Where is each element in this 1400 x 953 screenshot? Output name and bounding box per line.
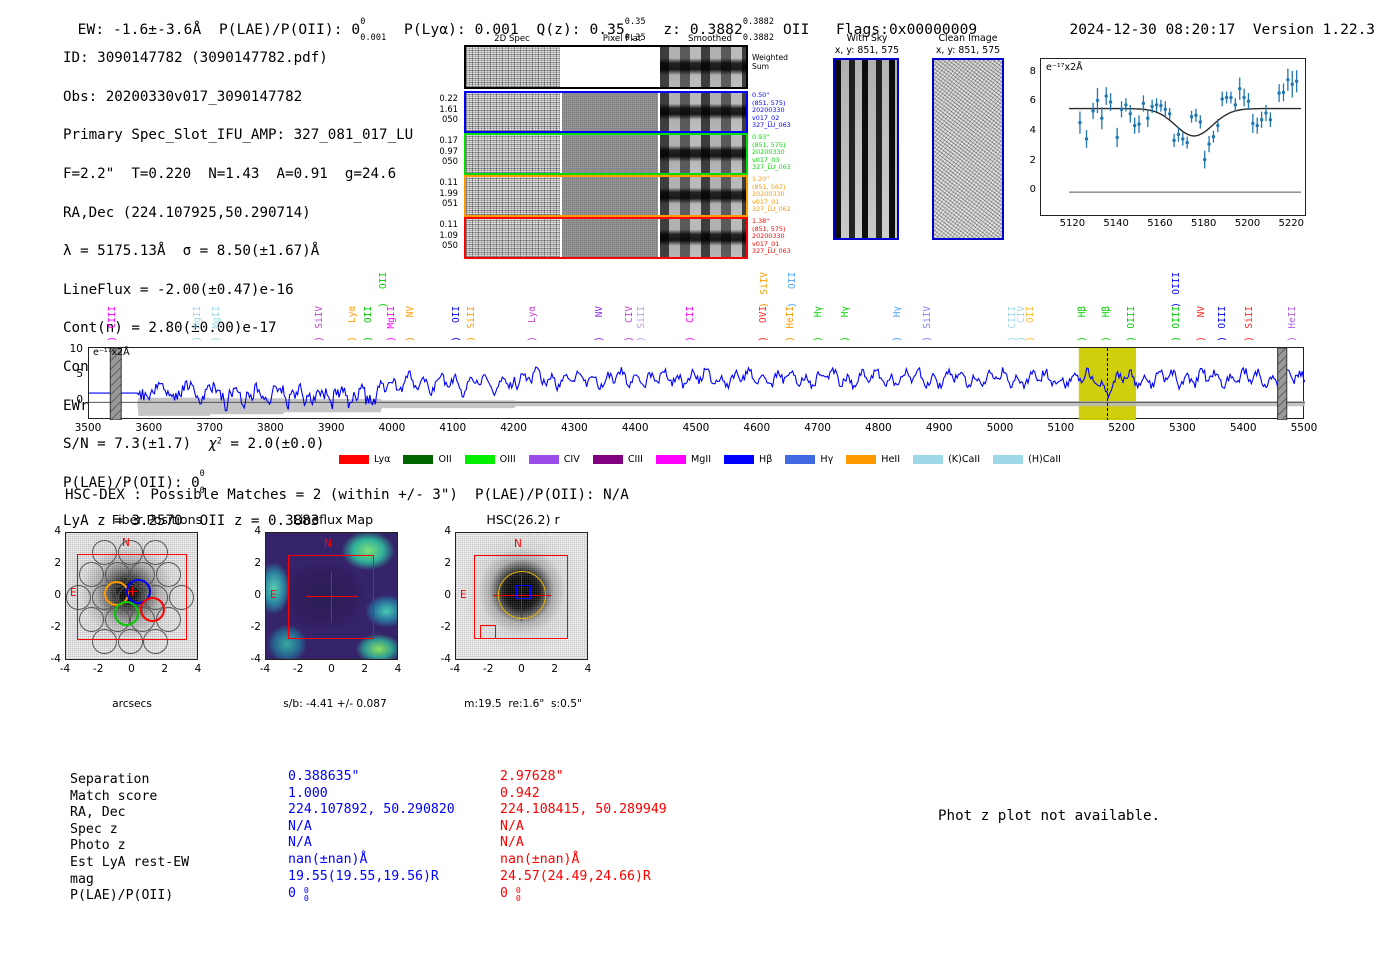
lineflux-xlabel: s/b: -4.41 +/- 0.087 [250,698,420,710]
match-table-label: P(LAE)/P(OII) [70,888,173,905]
spectrum-line-brace: ) [211,336,222,342]
line-fit-svg [1041,59,1307,217]
spectrum-line-label: OII [363,306,374,323]
spectrum-line-brace: ) [624,336,635,342]
spectrum-line-label: Hγ [892,306,903,317]
line-fit-xtick: 5220 [1269,218,1313,229]
spectrum-line-brace: ) [347,336,358,342]
spectrum-line-label: Lyα [527,306,538,323]
spectrum-xtick: 3500 [58,422,118,434]
mini-ytick: 0 [241,589,261,601]
full-spectrum-plot: e⁻¹⁷x2Å [88,347,1304,419]
legend-label: OIII [500,454,516,465]
compass-e-hsc: E [460,589,467,601]
weighted-sum-2dspec [466,47,560,87]
spectrum-line-brace: ) [758,336,769,342]
fiber-red-box [77,554,187,640]
spectrum-xtick: 4400 [605,422,665,434]
line-fit-ytick: 6 [1014,95,1036,106]
mini-ytick: 2 [241,557,261,569]
fiber-row-caption: 1.20" (851, 567) 20200330 v017_01 327_LU… [752,176,791,214]
fiber-row-2dspec [466,135,560,173]
spectrum-ytick: 0 [60,394,83,406]
fiber-row [464,91,748,133]
mini-xtick: 2 [351,663,379,675]
match-table-blue-value: 224.107892, 50.290820 [288,802,455,819]
match-table-blue-value: 0 00 [288,885,309,903]
mini-ytick: -2 [41,621,61,633]
fiber-row-pixelflat [562,219,658,257]
match-table-label: Separation [70,772,149,789]
hsc-blue-box [516,585,531,599]
spectrum-ytick: 10 [60,343,83,355]
cutout-with-sky-image [833,58,899,240]
fiber-row [464,133,748,175]
match-table-red-value: 2.97628" [500,769,564,786]
spectrum-xtick: 3900 [301,422,361,434]
spectrum-xtick: 4100 [423,422,483,434]
info-obs: Obs: 20200330v017_3090147782 [63,88,430,107]
legend-label: CIII [628,454,643,465]
spectrum-line-brace: ) [363,336,374,342]
fiber-xlabel: arcsecs [62,698,202,710]
spectrum-line-label: NV [594,306,605,317]
fiber-row-metrics: 0.17 0.97 050 [418,135,458,167]
legend-swatch [656,455,686,464]
spectrum-line-label: OIII [1171,306,1182,329]
spectrum-xtick: 5200 [1092,422,1152,434]
info-radec: RA,Dec (224.107925,50.290714) [63,204,430,223]
spectrum-line-brace: ) [594,336,605,342]
match-table-label: Spec z [70,822,118,839]
spectrum-line-labels: CIII)MgII)MgII)SiIV)Lyα)OII)OII)MgII)NV)… [0,272,1400,350]
legend-item: OII [403,454,451,465]
match-table-blue-value: N/A [288,819,312,836]
photz-message: Phot z plot not available. [938,808,1160,824]
spectrum-line-label: SiII [466,306,477,329]
legend-swatch [913,455,943,464]
mini-ytick: 0 [431,589,451,601]
spectrum-xtick: 5000 [970,422,1030,434]
spectrum-line-label: SiII [1244,306,1255,329]
spectrum-xtick: 5100 [1031,422,1091,434]
spectrum-xtick: 4700 [788,422,848,434]
spectrum-line-label: OIII [1126,306,1137,329]
fiber-row-2dspec [466,219,560,257]
panel-title-fiber-positions: Fiber Positions [62,512,252,527]
mini-ytick: 0 [41,589,61,601]
legend-swatch [529,455,559,464]
spectrum-xtick: 4000 [362,422,422,434]
spectrum-line-brace: ) [107,336,118,342]
mini-ytick: 4 [241,525,261,537]
spectrum-xtick: 4800 [848,422,908,434]
match-table-red-value: 224.108415, 50.289949 [500,802,667,819]
compass-n-fiber: N [122,537,130,549]
info-lambda-sigma: λ = 5175.13Å σ = 8.50(±1.67)Å [63,242,430,261]
match-table-label: RA, Dec [70,805,126,822]
mini-xtick: 2 [151,663,179,675]
spectrum-xtick: 3600 [119,422,179,434]
spectrum-line-brace: ) [685,336,696,342]
mini-xtick: 0 [318,663,346,675]
legend-item: Lyα [339,454,390,465]
legend-label: Hβ [759,454,772,465]
line-fit-ytick: 2 [1014,155,1036,166]
spectrum-line-brace: ) [192,336,203,342]
legend-item: CIV [529,454,580,465]
legend-swatch [724,455,754,464]
spectrum-line-label: OIII [1171,272,1182,295]
cutout-coords-clean: x, y: 851, 575 [916,45,1020,56]
legend-item: Hγ [785,454,833,465]
legend-label: Lyα [374,454,390,465]
legend-item: HeII [846,454,900,465]
match-table-red-value: 0 00 [500,885,521,903]
spectrum-line-label: MgII [211,306,222,329]
spectrum-line-brace: ) [1287,336,1298,342]
line-fit-xtick: 5160 [1138,218,1182,229]
match-table-blue-value: 19.55(19.55,19.56)R [288,869,439,886]
spectrum-line-label: Hβ [1077,306,1088,317]
lineflux-crosshair-v [331,571,332,623]
legend-label: (H)CaII [1028,454,1061,465]
spectrum-line-label: SiII [636,306,647,329]
spectrum-line-label: HeII [1287,306,1298,329]
spectrum-line-brace: ) [386,336,397,342]
spectrum-xtick: 4300 [544,422,604,434]
spectrum-line-brace: ) [314,336,325,342]
mini-xtick: 2 [541,663,569,675]
spectrum-line-brace: ) [787,302,798,308]
line-fit-xtick: 5180 [1182,218,1226,229]
spectrum-xtick: 3800 [240,422,300,434]
spectrum-line-brace: ) [636,336,647,342]
legend-label: (K)CaII [948,454,980,465]
spectrum-line-brace: ) [466,336,477,342]
legend-swatch [846,455,876,464]
match-table-label: Match score [70,789,157,806]
fiber-row-smoothed [660,93,746,131]
match-table-blue-value: 1.000 [288,786,328,803]
mini-ytick: 4 [41,525,61,537]
hsc-xlabel: m:19.5 re:1.6" s:0.5" [438,698,608,710]
spectrum-line-brace: ) [1217,336,1228,342]
header-z-species: OII [783,22,810,38]
spectrum-line-brace: ) [785,336,796,342]
legend-swatch [465,455,495,464]
legend-label: MgII [691,454,711,465]
hsc-r-image: NE [455,532,588,660]
weighted-sum-label: Weighted Sum [752,53,788,71]
spectrum-line-label: SiIV [314,306,325,329]
match-table-blue-value: N/A [288,835,312,852]
weighted-sum-smoothed [660,47,746,87]
spectrum-xtick: 4900 [909,422,969,434]
spectrum-line-label: CIII [107,306,118,329]
spectrum-line-label: NV [1196,306,1207,317]
spectrum-xtick: 4200 [484,422,544,434]
match-table-label: Est LyA rest-EW [70,855,189,872]
weighted-sum-pixelflat [562,47,658,87]
spectrum-line-label: Lyα [347,306,358,323]
mini-ytick: 2 [41,557,61,569]
spectrum-line-label: NV [405,306,416,317]
fiber-row-2dspec [466,177,560,215]
info-id: ID: 3090147782 (3090147782.pdf) [63,49,430,68]
legend-label: HeII [881,454,900,465]
spectrum-line-brace: ) [1077,336,1088,342]
match-table-red-value: 0.942 [500,786,540,803]
spectrum-line-label: CIV [624,306,635,323]
spectrum-line-label: Hγ [813,306,824,317]
line-fit-xtick: 5200 [1225,218,1269,229]
legend-label: CIV [564,454,580,465]
mini-xtick: -2 [284,663,312,675]
spectrum-xtick: 4500 [666,422,726,434]
spectrum-line-brace: ) [1025,336,1036,342]
info-params: F=2.2" T=0.220 N=1.43 A=0.91 g=24.6 [63,165,430,184]
fiber-center-marker [132,587,133,596]
fiber-row-metrics: 0.11 1.99 051 [418,177,458,209]
spectrum-line-label: Hγ [840,306,851,317]
spectrum-line-brace: ) [1244,336,1255,342]
match-table-red-value: 24.57(24.49,24.66)R [500,869,651,886]
spectrum-xtick: 4600 [727,422,787,434]
spectrum-xtick: 5500 [1274,422,1334,434]
legend-label: Hγ [820,454,833,465]
line-fit-annotation: e⁻¹⁷x2Å [1046,62,1083,73]
line-fit-ytick: 8 [1014,66,1036,77]
mini-ytick: -4 [241,653,261,665]
spectrum-line-label: OII [787,272,798,289]
legend-item: OIII [465,454,516,465]
legend-item: (H)CaII [993,454,1061,465]
compass-e-lineflux: E [270,589,277,601]
spectrum-line-brace: ) [405,336,416,342]
fiber-row [464,175,748,217]
spectrum-line-brace: ) [922,336,933,342]
line-fit-plot: e⁻¹⁷x2Å [1040,58,1306,216]
mini-xtick: -2 [474,663,502,675]
legend-swatch [785,455,815,464]
spectrum-line-label: HeII [785,306,796,329]
cutout-title-clean: Clean Image [916,33,1020,44]
mini-ytick: -4 [41,653,61,665]
spectrum-line-brace: ) [527,336,538,342]
weighted-sum-row [464,45,748,89]
header-datetime: 2024-12-30 08:20:17 [1069,22,1235,38]
legend-swatch [403,455,433,464]
fiber-row-smoothed [660,219,746,257]
header-timestamp-version: 2024-12-30 08:20:17 Version 1.22.3 [1052,6,1375,38]
fiber-positions-image: NE [65,532,198,660]
spectrum-line-brace: ) [892,336,903,342]
spectrum-line-brace: ) [1171,336,1182,342]
match-table-red-value: N/A [500,819,524,836]
line-fit-xtick: 5120 [1050,218,1094,229]
mini-ytick: -4 [431,653,451,665]
spectrum-line-label: OIII [1217,306,1228,329]
match-table-blue-value: 0.388635" [288,769,359,786]
panel-title-lineflux-map: Lineflux Map [238,512,428,527]
spectrum-line-brace: ) [1101,336,1112,342]
spectrum-line-brace: ) [840,336,851,342]
legend-swatch [993,455,1023,464]
spectrum-line-label: MgII [386,306,397,329]
lineflux-map-image: NE [265,532,398,660]
spectrum-line-label: CII [685,306,696,323]
legend-label: OII [438,454,451,465]
full-spectrum-svg [89,348,1305,420]
match-table-label: Photo z [70,838,126,855]
cutout-coords-with-sky: x, y: 851, 575 [820,45,914,56]
line-fit-xtick: 5140 [1094,218,1138,229]
mini-ytick: 4 [431,525,451,537]
legend-item: CIII [593,454,643,465]
strip-title-2dspec: 2D Spec [462,34,562,44]
strip-title-smoothed: Smoothed [660,34,760,44]
mini-xtick: 4 [574,663,602,675]
spectrum-line-brace: ) [759,302,770,308]
fiber-row-smoothed [660,135,746,173]
spectrum-line-label: OII [451,306,462,323]
panel-title-hsc-r: HSC(26.2) r [428,512,618,527]
compass-n-lineflux: N [324,538,332,550]
fiber-row-smoothed [660,177,746,215]
fiber-row-caption: 0.93" (851, 575) 20200330 v017_03 327_LU… [752,134,791,172]
fiber-row [464,217,748,259]
line-fit-ytick: 4 [1014,125,1036,136]
legend-swatch [339,455,369,464]
cutout-title-with-sky: With Sky [820,33,914,44]
fiber-row-caption: 1.38" (851, 575) 20200330 v017_01 327_LU… [752,218,791,256]
fiber-row-pixelflat [562,93,658,131]
fiber-row-2dspec [466,93,560,131]
mini-ytick: 2 [431,557,451,569]
spectrum-annotation: e⁻¹⁷x2Å [93,347,130,358]
fiber-row-pixelflat [562,177,658,215]
match-table-red-value: N/A [500,835,524,852]
spectrum-line-brace: ) [1126,336,1137,342]
mini-ytick: -2 [431,621,451,633]
compass-n-hsc: N [514,538,522,550]
mini-ytick: -2 [241,621,261,633]
match-table-blue-value: nan(±nan)Å [288,852,367,869]
fiber-row-caption: 0.50" (851, 575) 20200330 v017_02 327_LU… [752,92,791,130]
spectrum-line-brace: ) [813,336,824,342]
spectrum-line-label: SiIV [759,272,770,295]
legend-item: Hβ [724,454,772,465]
fiber-row-pixelflat [562,135,658,173]
spectrum-line-label: MgII [192,306,203,329]
spectrum-line-label: Hβ [1101,306,1112,317]
spectrum-line-brace: ) [451,336,462,342]
match-table-label: mag [70,872,94,889]
info-primary-spec: Primary Spec_Slot_IFU_AMP: 327_081_017_L… [63,126,430,145]
header-version: Version 1.22.3 [1253,22,1375,38]
mini-xtick: 4 [184,663,212,675]
strip-title-pixelflat: Pixel Flat [572,34,672,44]
hsc-small-red-box [480,625,496,639]
spectrum-ytick: 5 [60,368,83,380]
fiber-row-metrics: 0.11 1.09 050 [418,219,458,251]
mini-xtick: 0 [508,663,536,675]
spectrum-line-brace: ) [1196,336,1207,342]
mini-xtick: 4 [384,663,412,675]
spectrum-legend: LyαOIIOIIICIVCIIIMgIIHβHγHeII(K)CaII(H)C… [0,452,1400,466]
fiber-row-metrics: 0.22 1.61 050 [418,93,458,125]
spectrum-xtick: 5400 [1213,422,1273,434]
legend-item: MgII [656,454,711,465]
spectrum-xtick: 3700 [180,422,240,434]
spectrum-line-label: OII [1025,306,1036,323]
spectrum-line-label: OVI [758,306,769,323]
hscdex-title: HSC-DEX : Possible Matches = 2 (within +… [65,487,629,503]
match-table-red-value: nan(±nan)Å [500,852,579,869]
line-fit-ytick: 0 [1014,184,1036,195]
compass-e-fiber: E [70,587,77,599]
mini-xtick: 0 [118,663,146,675]
cutout-clean-image [932,58,1004,240]
legend-swatch [593,455,623,464]
spectrum-line-label: OII [378,272,389,289]
spectrum-line-label: SiIV [922,306,933,329]
legend-item: (K)CaII [913,454,980,465]
spectrum-xtick: 5300 [1152,422,1212,434]
mini-xtick: -2 [84,663,112,675]
